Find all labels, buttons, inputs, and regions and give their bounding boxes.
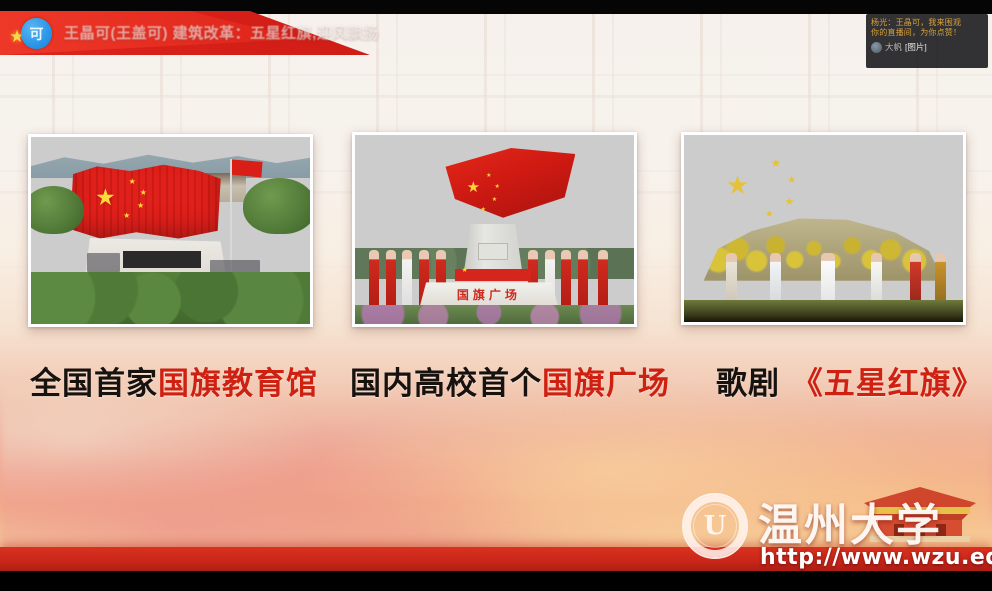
flag-small-star-icon: ★ — [486, 173, 491, 179]
soloist-shape — [770, 253, 781, 302]
backdrop-big-star-icon: ★ — [726, 172, 749, 198]
slide-canvas: ★ 可 王晶可(王盖可) 建筑改革：五星红旗,迎风飘扬 杨光：王晶可，我来围观 … — [0, 0, 992, 591]
caption-highlight-text: 国旗广场 — [542, 366, 670, 402]
chat-message-line-1: 杨光：王晶可，我来围观 — [871, 18, 983, 28]
chat-sender-name: 大帆 — [885, 41, 902, 53]
chat-entry: 大帆 [图片] — [871, 41, 983, 53]
backdrop-small-star-icon: ★ — [765, 210, 774, 220]
flag-big-star-icon: ★ — [95, 186, 116, 209]
flag-sculpture-shape — [441, 146, 575, 231]
bottom-letterbox-bar — [0, 571, 992, 591]
person-shape — [578, 250, 588, 307]
chat-message-line-2: 你的直播间，为你点赞！ — [871, 28, 983, 38]
flag-small-star-icon: ★ — [129, 178, 136, 186]
tree-shape — [243, 178, 310, 234]
photo-opera-five-star-red-flag: ★ ★ ★ ★ ★ — [684, 135, 963, 322]
soloist-shape — [910, 253, 921, 302]
university-branding: U 温州大学 http://www.wzu.edu.cn — [676, 481, 986, 571]
university-website-url: http://www.wzu.edu.cn — [760, 545, 992, 570]
soloist-shape — [821, 253, 835, 302]
photo-flag-square: ★ ★ ★ ★ ★ 国旗广场 — [355, 135, 634, 324]
caption-plain-text: 歌剧 — [716, 366, 792, 402]
backdrop-small-star-icon: ★ — [770, 157, 781, 169]
soloist-shape — [726, 253, 737, 302]
photo-card-flag-education-museum[interactable]: ★ ★ ★ ★ ★ — [28, 134, 313, 327]
backdrop-small-star-icon: ★ — [787, 176, 796, 186]
draped-flag-shape — [455, 269, 530, 280]
flag-big-star-icon: ★ — [467, 180, 480, 195]
university-seal-logo: U — [682, 493, 748, 559]
person-shape — [386, 250, 396, 307]
caption-plain-text: 国内高校首个 — [350, 366, 542, 402]
backdrop-small-star-icon: ★ — [784, 197, 794, 208]
plaque-shape — [478, 243, 509, 260]
caption-flag-education-museum: 全国首家国旗教育馆 — [30, 358, 318, 403]
flag-small-star-icon: ★ — [481, 207, 486, 213]
stage-floor-shape — [684, 300, 963, 322]
tree-row-shape — [31, 272, 310, 324]
chat-overlay-panel[interactable]: 杨光：王晶可，我来围观 你的直播间，为你点赞！ 大帆 [图片] — [866, 14, 988, 68]
flag-small-star-icon: ★ — [137, 202, 144, 210]
crowd-shape — [87, 253, 120, 272]
chat-image-attachment-label: [图片] — [905, 41, 927, 53]
monument-inscription: 国旗广场 — [430, 286, 547, 303]
stream-title: 王晶可(王盖可) 建筑改革：五星红旗,迎风飘扬 — [64, 22, 379, 43]
soloist-shape — [935, 253, 946, 302]
museum-building-shape — [70, 163, 221, 242]
caption-plain-text: 全国首家 — [30, 366, 158, 402]
person-shape — [369, 250, 379, 307]
caption-highlight-text: 《五星红旗》 — [792, 366, 984, 402]
flag-small-star-icon: ★ — [495, 184, 500, 190]
flag-small-star-icon: ★ — [140, 189, 147, 197]
flag-small-star-icon: ★ — [123, 212, 130, 220]
flowerbed-shape — [355, 305, 634, 324]
streamer-avatar[interactable]: 可 — [21, 18, 52, 49]
university-name: 温州大学 — [758, 489, 942, 553]
photo-flag-education-museum: ★ ★ ★ ★ ★ — [31, 137, 310, 324]
soloist-shape — [871, 253, 882, 302]
caption-highlight-text: 国旗教育馆 — [158, 366, 318, 402]
person-shape — [402, 250, 412, 307]
person-shape — [598, 250, 608, 307]
photo-card-opera[interactable]: ★ ★ ★ ★ ★ — [681, 132, 966, 325]
flag-small-star-icon: ★ — [492, 197, 497, 203]
chat-user-avatar-icon — [871, 42, 882, 53]
photo-card-flag-square[interactable]: ★ ★ ★ ★ ★ 国旗广场 — [352, 132, 637, 327]
person-shape — [561, 250, 571, 307]
caption-opera: 歌剧 《五星红旗》 — [716, 358, 984, 403]
caption-flag-square: 国内高校首个国旗广场 — [350, 358, 670, 403]
stage-shape — [123, 251, 201, 268]
